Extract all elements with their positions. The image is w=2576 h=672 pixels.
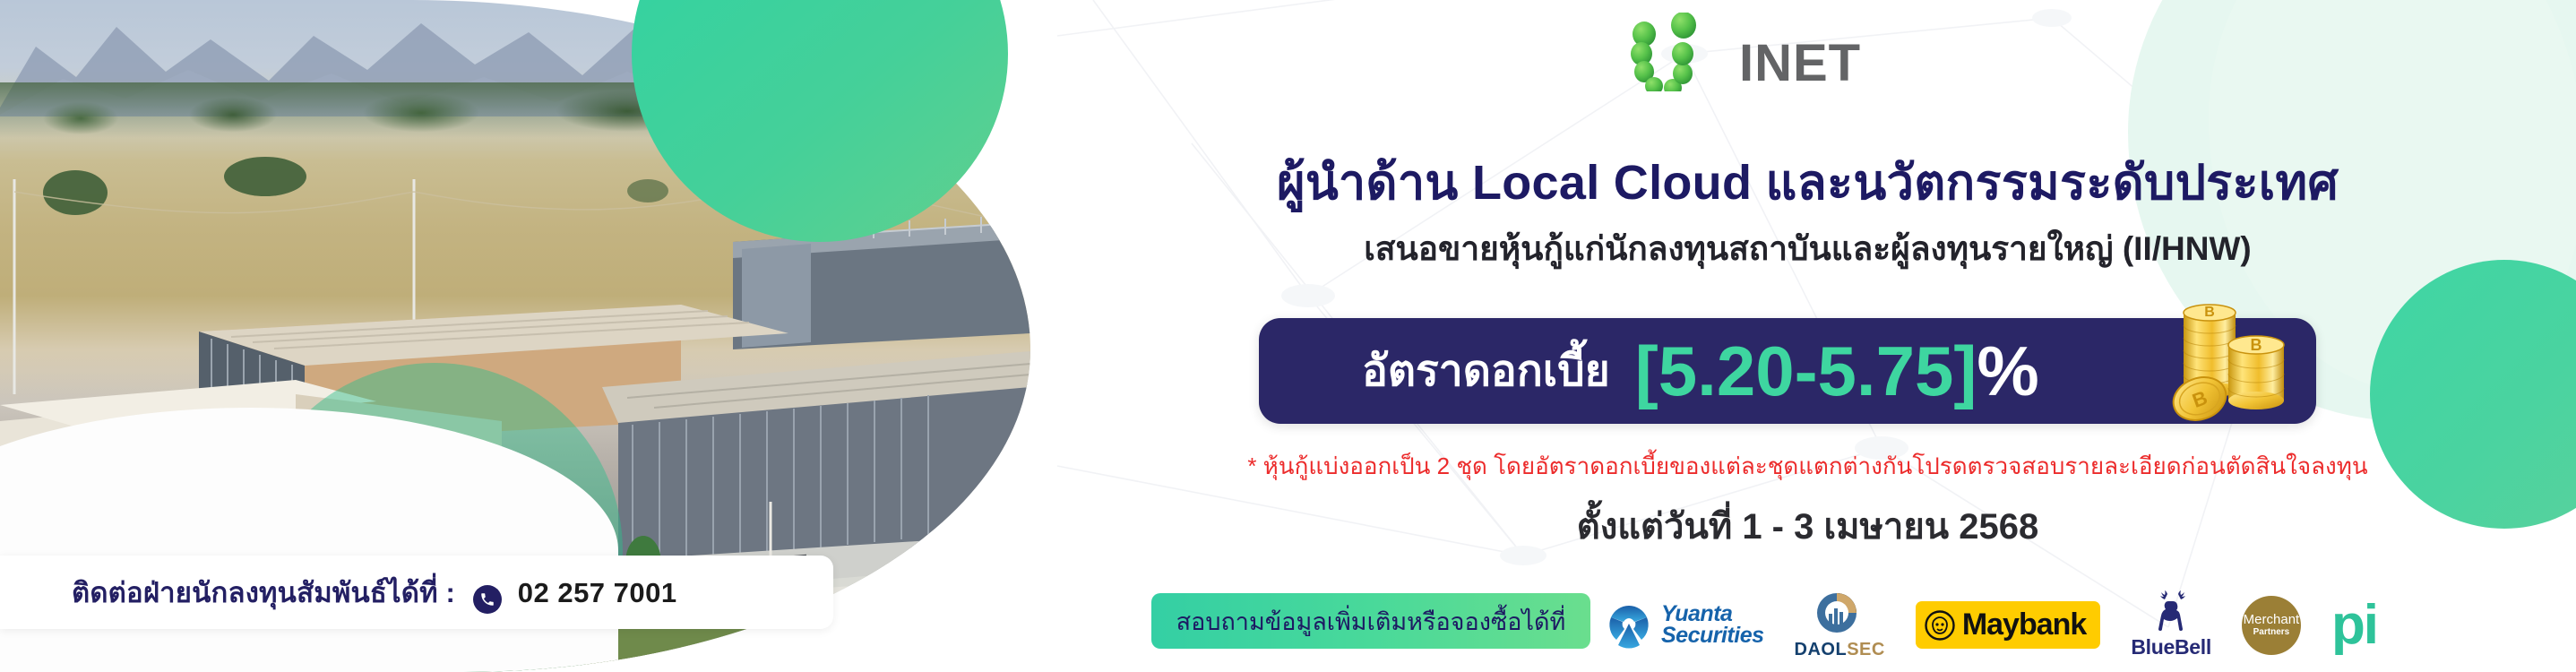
interest-rate-label: อัตราดอกเบี้ย [1362, 337, 1610, 405]
footnote-disclaimer: * หุ้นกู้แบ่งออกเป็น 2 ชุด โดยอัตราดอกเบ… [1039, 448, 2576, 485]
svg-text:B: B [2251, 336, 2262, 354]
contact-label-text: ติดต่อฝ่ายนักลงทุนสัมพันธ์ได้ที่ : [72, 577, 455, 608]
inet-logo-text: INET [1739, 38, 1861, 90]
bluebell-text: BlueBell [2131, 635, 2211, 659]
yuanta-line1: Yuanta [1661, 604, 1764, 625]
interest-rate-box: อัตราดอกเบี้ย [5.20-5.75] % [1259, 318, 2316, 424]
content-column: INET ผู้นำด้าน Local Cloud และนวัตกรรมระ… [1039, 0, 2576, 672]
phone-number[interactable]: 02 257 7001 [518, 577, 677, 608]
partner-logo-merchant-partners[interactable]: Merchant Partners [2242, 596, 2301, 655]
headline: ผู้นำด้าน Local Cloud และนวัตกรรมระดับปร… [1039, 143, 2576, 220]
promo-banner: ติดต่อฝ่ายนักลงทุนสัมพันธ์ได้ที่ : 02 25… [0, 0, 2576, 672]
inet-logo[interactable]: INET [1617, 13, 1940, 91]
yuanta-mark-icon [1604, 600, 1654, 650]
partner-logo-maybank[interactable]: Maybank [1916, 601, 2101, 649]
svg-text:B: B [2204, 305, 2215, 320]
inet-dots-logo-icon [1617, 13, 1734, 91]
subheadline: เสนอขายหุ้นกู้แก่นักลงทุนสถาบันและผู้ลงท… [1039, 222, 2576, 275]
partner-logos: Yuanta Securities DAOLSE [1604, 582, 2572, 668]
pi-text: pi [2331, 603, 2377, 648]
merchant-circle: Merchant Partners [2242, 596, 2301, 655]
yuanta-line2: Securities [1661, 625, 1764, 647]
investor-relations-contact[interactable]: ติดต่อฝ่ายนักลงทุนสัมพันธ์ได้ที่ : 02 25… [0, 556, 833, 629]
offer-period: ตั้งแต่วันที่ 1 - 3 เมษายน 2568 [1039, 497, 2576, 555]
merchant-line1: Merchant [2244, 613, 2300, 626]
phone-icon [473, 585, 502, 614]
contact-label: ติดต่อฝ่ายนักลงทุนสัมพันธ์ได้ที่ : 02 25… [72, 570, 677, 615]
partner-logo-bluebell[interactable]: BlueBell [2131, 590, 2211, 659]
partner-logo-pi[interactable]: pi [2331, 603, 2377, 648]
interest-rate-value: [5.20-5.75] [1635, 336, 1977, 406]
partner-logo-yuanta[interactable]: Yuanta Securities [1604, 600, 1764, 650]
merchant-line2: Partners [2253, 626, 2290, 638]
interest-rate-percent: % [1977, 336, 2038, 406]
partner-logo-daol[interactable]: DAOLSEC [1795, 590, 1885, 660]
daol-line1: DAOL [1795, 640, 1848, 659]
daol-mark-icon [1813, 590, 1866, 637]
maybank-text: Maybank [1962, 607, 2087, 642]
gold-coins-icon: B B B [2153, 293, 2314, 436]
maybank-tiger-icon [1925, 610, 1955, 641]
cta-button[interactable]: สอบถามข้อมูลเพิ่มเติมหรือจองซื้อได้ที่ [1151, 593, 1590, 649]
bluebell-deer-icon [2148, 590, 2194, 635]
daol-line2: SEC [1847, 640, 1885, 659]
